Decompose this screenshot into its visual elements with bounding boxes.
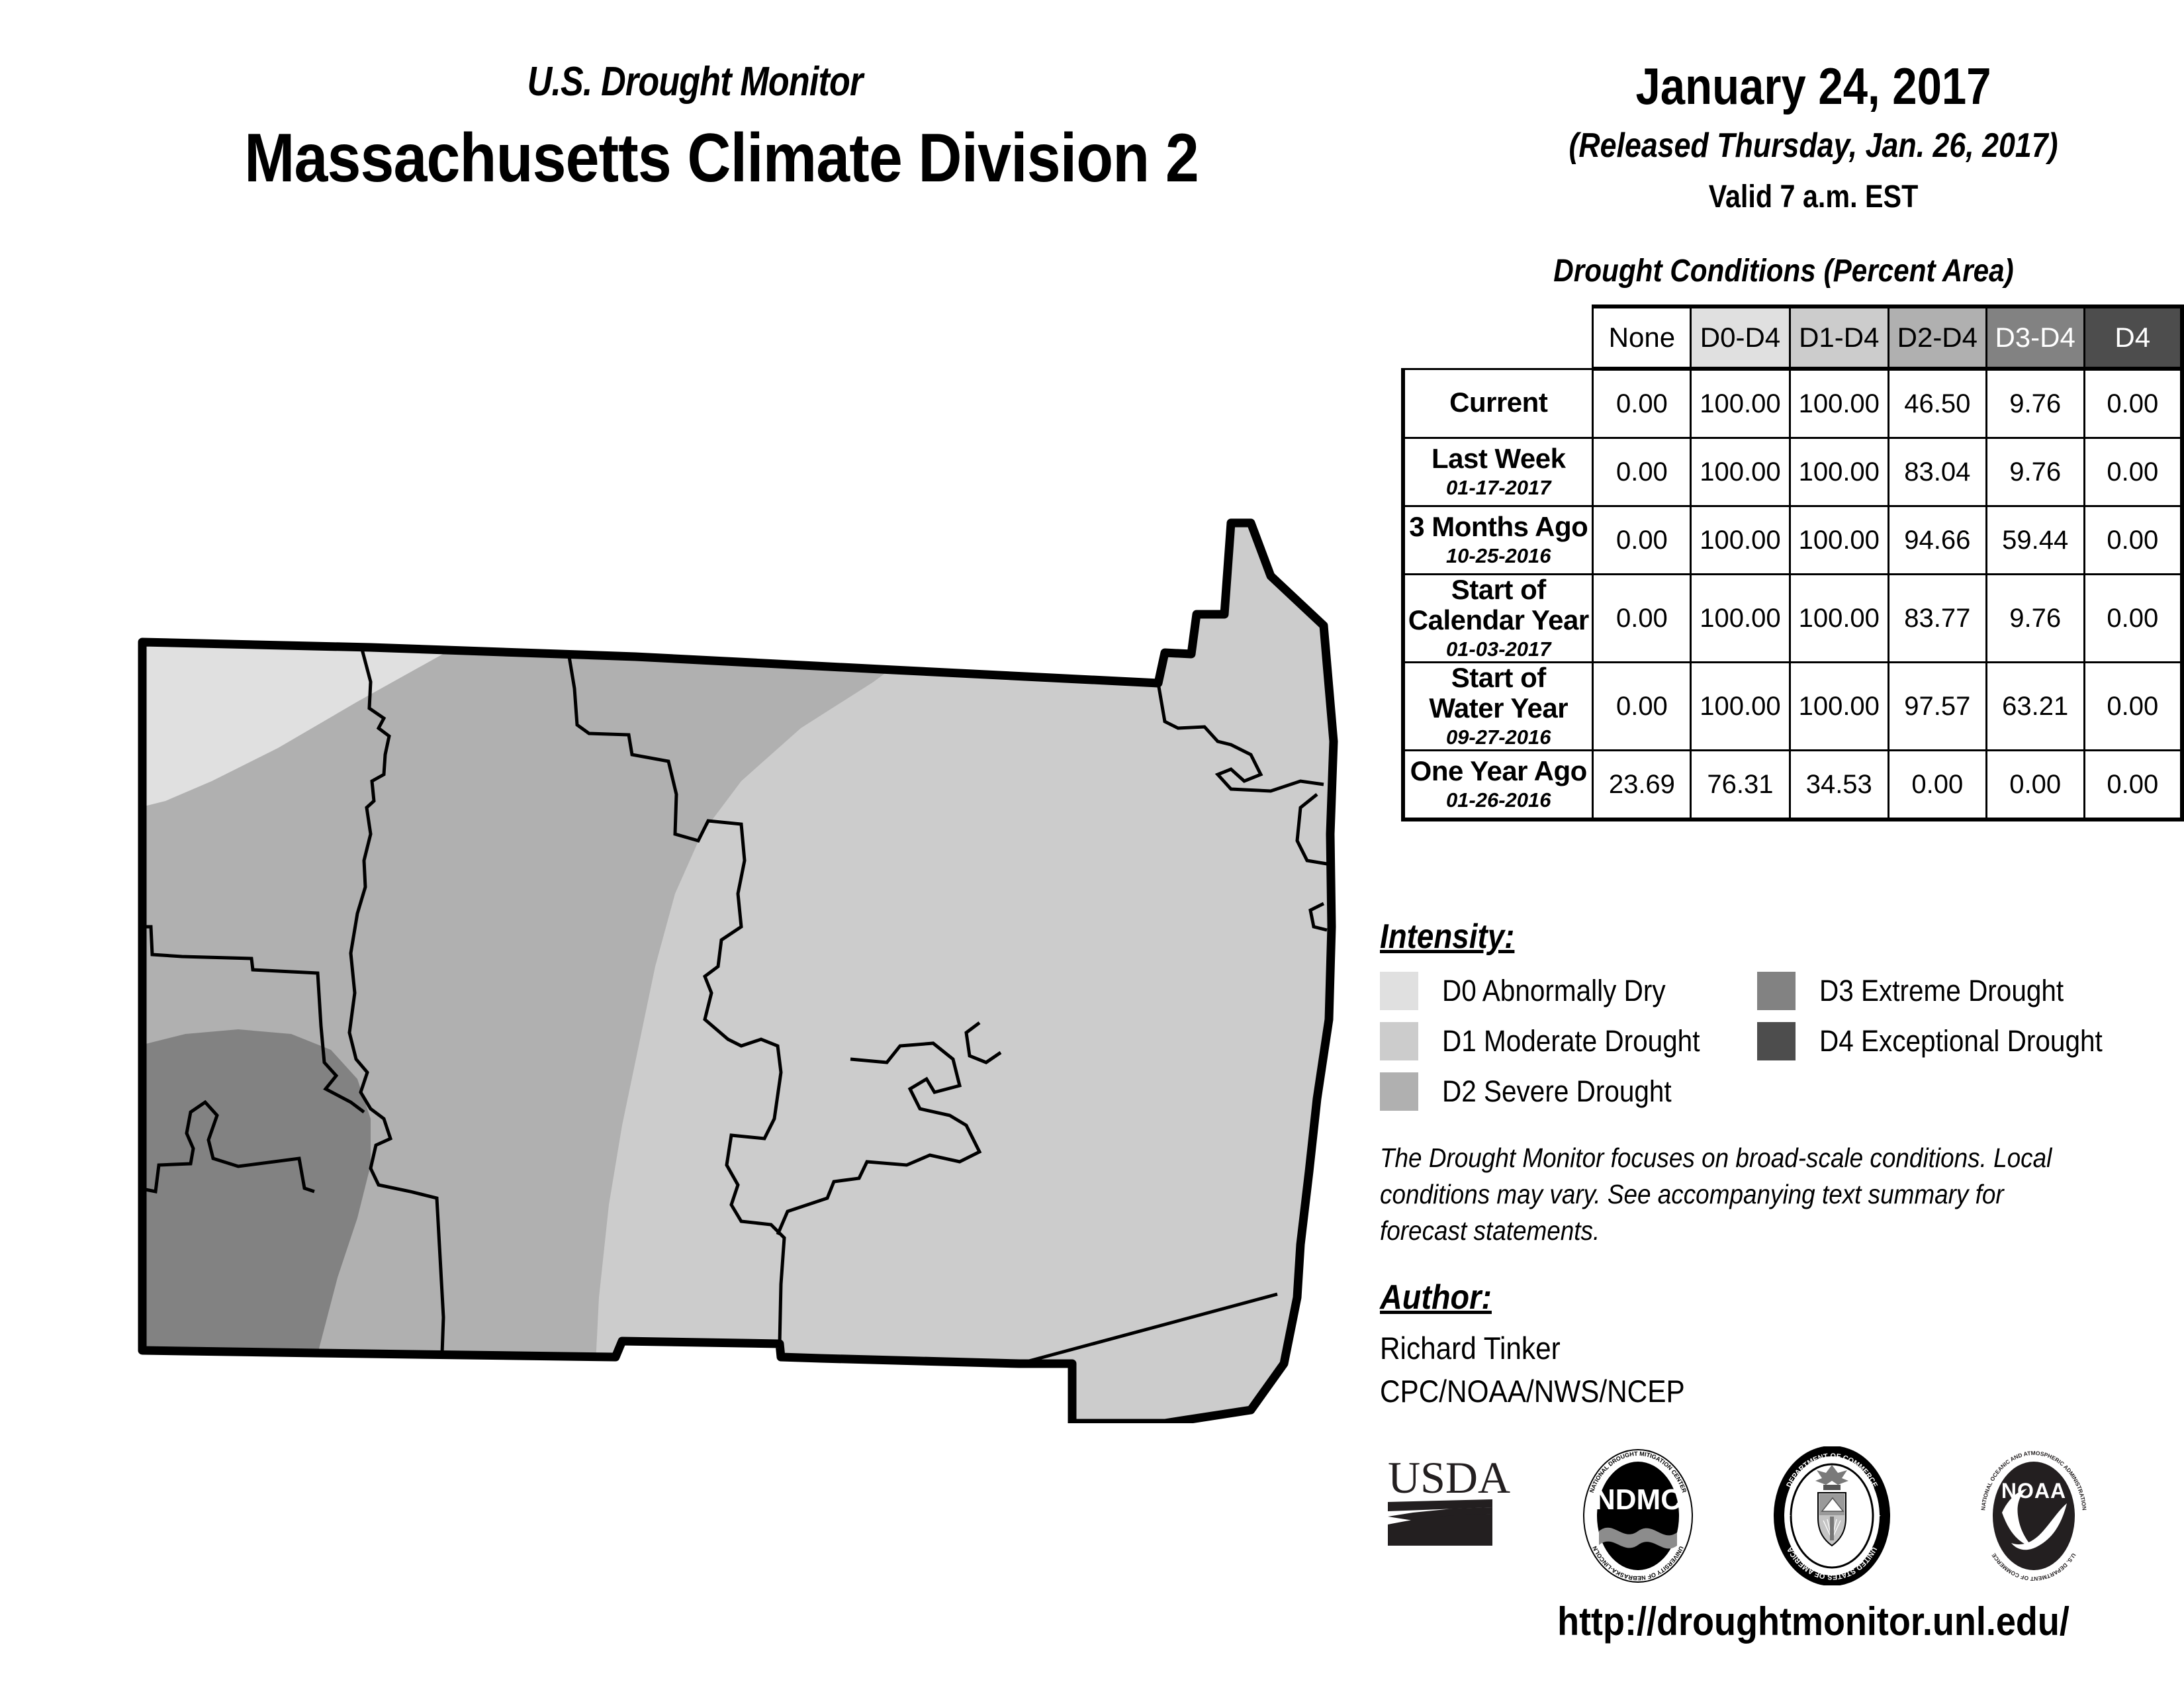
legend-swatch-d3 xyxy=(1757,972,1796,1010)
cell-d0d4: 100.00 xyxy=(1691,369,1790,438)
page-title: Massachusetts Climate Division 2 xyxy=(87,119,1356,198)
cell-d4: 0.00 xyxy=(2084,506,2182,575)
legend-label-d0: D0 Abnormally Dry xyxy=(1442,974,1666,1008)
ndmc-logo: NDMC NATIONAL DROUGHT MITIGATION CENTER … xyxy=(1575,1446,1701,1585)
legend-label-d3: D3 Extreme Drought xyxy=(1819,974,2064,1008)
cell-d0d4: 76.31 xyxy=(1691,751,1790,820)
row-label-text: Start of Water Year xyxy=(1429,662,1568,724)
cell-d1d4: 100.00 xyxy=(1790,369,1888,438)
cell-d2d4: 46.50 xyxy=(1888,369,1986,438)
svg-text:USDA: USDA xyxy=(1388,1453,1510,1503)
cell-d2d4: 0.00 xyxy=(1888,751,1986,820)
table-header-row: None D0-D4 D1-D4 D2-D4 D3-D4 D4 xyxy=(1403,306,2182,369)
row-label-date: 01-03-2017 xyxy=(1405,637,1592,661)
usda-logo: USDA xyxy=(1387,1453,1519,1559)
svg-text:★: ★ xyxy=(1874,1511,1882,1521)
row-label-current: Current xyxy=(1403,369,1593,438)
cell-d3d4: 63.21 xyxy=(1986,663,2084,751)
cell-d3d4: 9.76 xyxy=(1986,438,2084,506)
cell-d4: 0.00 xyxy=(2084,369,2182,438)
cell-d1d4: 100.00 xyxy=(1790,575,1888,663)
drought-map xyxy=(40,463,1403,1423)
legend-item-d2: D2 Severe Drought xyxy=(1380,1072,1697,1111)
svg-text:★: ★ xyxy=(1784,1511,1792,1521)
author-heading: Author: xyxy=(1380,1278,1492,1317)
cell-d4: 0.00 xyxy=(2084,663,2182,751)
row-label-3-months-ago: 3 Months Ago 10-25-2016 xyxy=(1403,506,1593,575)
cell-d2d4: 83.77 xyxy=(1888,575,1986,663)
cell-d0d4: 100.00 xyxy=(1691,663,1790,751)
doc-seal: DEPARTMENT OF COMMERCE UNITED STATES OF … xyxy=(1769,1446,1895,1585)
row-label-date: 10-25-2016 xyxy=(1405,544,1592,568)
row-label-date: 01-17-2017 xyxy=(1405,476,1592,500)
table-row: 3 Months Ago 10-25-2016 0.00 100.00 100.… xyxy=(1403,506,2182,575)
cell-d0d4: 100.00 xyxy=(1691,438,1790,506)
cell-d3d4: 59.44 xyxy=(1986,506,2084,575)
column-header-d0d4: D0-D4 xyxy=(1691,306,1790,369)
table-row: One Year Ago 01-26-2016 23.69 76.31 34.5… xyxy=(1403,751,2182,820)
legend-item-d1: D1 Moderate Drought xyxy=(1380,1022,1729,1060)
cell-d4: 0.00 xyxy=(2084,575,2182,663)
noaa-logo: NOAA NATIONAL OCEANIC AND ATMOSPHERIC AD… xyxy=(1968,1446,2100,1585)
legend-swatch-d1 xyxy=(1380,1022,1418,1060)
column-header-d1d4: D1-D4 xyxy=(1790,306,1888,369)
table-row: Start of Calendar Year 01-03-2017 0.00 1… xyxy=(1403,575,2182,663)
cell-d2d4: 83.04 xyxy=(1888,438,1986,506)
cell-d3d4: 9.76 xyxy=(1986,369,2084,438)
legend-label-d2: D2 Severe Drought xyxy=(1442,1074,1672,1109)
legend-item-d0: D0 Abnormally Dry xyxy=(1380,972,1690,1010)
row-label-last-week: Last Week 01-17-2017 xyxy=(1403,438,1593,506)
author-affiliation: CPC/NOAA/NWS/NCEP xyxy=(1380,1373,1685,1409)
column-header-none: None xyxy=(1593,306,1691,369)
map-date: January 24, 2017 xyxy=(1494,56,2132,117)
column-header-d4: D4 xyxy=(2084,306,2182,369)
cell-d0d4: 100.00 xyxy=(1691,575,1790,663)
cell-none: 0.00 xyxy=(1593,663,1691,751)
row-label-text: Current xyxy=(1449,387,1547,418)
cell-d1d4: 100.00 xyxy=(1790,438,1888,506)
legend-label-d4: D4 Exceptional Drought xyxy=(1819,1024,2103,1058)
table-row: Last Week 01-17-2017 0.00 100.00 100.00 … xyxy=(1403,438,2182,506)
release-date: (Released Thursday, Jan. 26, 2017) xyxy=(1494,126,2132,165)
logo-row: USDA NDMC NATIONAL DROUGHT MITIGATION CE… xyxy=(1380,1446,2161,1589)
table-caption: Drought Conditions (Percent Area) xyxy=(1484,253,2083,289)
row-label-date: 09-27-2016 xyxy=(1405,726,1592,749)
column-header-d3d4: D3-D4 xyxy=(1986,306,2084,369)
row-label-text: 3 Months Ago xyxy=(1409,511,1588,542)
svg-text:NOAA: NOAA xyxy=(2001,1479,2066,1503)
cell-d3d4: 9.76 xyxy=(1986,575,2084,663)
row-label-text: Last Week xyxy=(1432,443,1566,474)
svg-text:NDMC: NDMC xyxy=(1594,1483,1682,1516)
cell-d2d4: 97.57 xyxy=(1888,663,1986,751)
table-row: Current 0.00 100.00 100.00 46.50 9.76 0.… xyxy=(1403,369,2182,438)
cell-d1d4: 34.53 xyxy=(1790,751,1888,820)
header-blank-cell xyxy=(1403,306,1593,369)
legend-swatch-d2 xyxy=(1380,1072,1418,1111)
cell-d4: 0.00 xyxy=(2084,438,2182,506)
cell-d3d4: 0.00 xyxy=(1986,751,2084,820)
valid-time: Valid 7 a.m. EST xyxy=(1494,179,2132,215)
legend-item-d3: D3 Extreme Drought xyxy=(1757,972,2091,1010)
website-url[interactable]: http://droughtmonitor.unl.edu/ xyxy=(1480,1599,2147,1644)
cell-d4: 0.00 xyxy=(2084,751,2182,820)
cell-d2d4: 94.66 xyxy=(1888,506,1986,575)
legend-swatch-d4 xyxy=(1757,1022,1796,1060)
column-header-d2d4: D2-D4 xyxy=(1888,306,1986,369)
cell-d1d4: 100.00 xyxy=(1790,663,1888,751)
row-label-one-year-ago: One Year Ago 01-26-2016 xyxy=(1403,751,1593,820)
legend-item-d4: D4 Exceptional Drought xyxy=(1757,1022,2134,1060)
page-subtitle: U.S. Drought Monitor xyxy=(111,58,1279,105)
row-label-date: 01-26-2016 xyxy=(1405,788,1592,812)
drought-monitor-page: U.S. Drought Monitor Massachusetts Clima… xyxy=(0,0,2184,1688)
author-name: Richard Tinker xyxy=(1380,1330,1561,1366)
legend-swatch-d0 xyxy=(1380,972,1418,1010)
legend-label-d1: D1 Moderate Drought xyxy=(1442,1024,1700,1058)
cell-d0d4: 100.00 xyxy=(1691,506,1790,575)
drought-conditions-table: None D0-D4 D1-D4 D2-D4 D3-D4 D4 Current … xyxy=(1401,305,2184,821)
row-label-text: Start of Calendar Year xyxy=(1408,574,1589,635)
cell-none: 0.00 xyxy=(1593,438,1691,506)
intensity-heading: Intensity: xyxy=(1380,917,1514,957)
cell-none: 0.00 xyxy=(1593,369,1691,438)
table-row: Start of Water Year 09-27-2016 0.00 100.… xyxy=(1403,663,2182,751)
cell-none: 0.00 xyxy=(1593,575,1691,663)
disclaimer-text: The Drought Monitor focuses on broad-sca… xyxy=(1380,1140,2083,1249)
cell-none: 0.00 xyxy=(1593,506,1691,575)
cell-d1d4: 100.00 xyxy=(1790,506,1888,575)
cell-none: 23.69 xyxy=(1593,751,1691,820)
row-label-text: One Year Ago xyxy=(1410,755,1587,786)
row-label-start-of-calendar-year: Start of Calendar Year 01-03-2017 xyxy=(1403,575,1593,663)
row-label-start-of-water-year: Start of Water Year 09-27-2016 xyxy=(1403,663,1593,751)
